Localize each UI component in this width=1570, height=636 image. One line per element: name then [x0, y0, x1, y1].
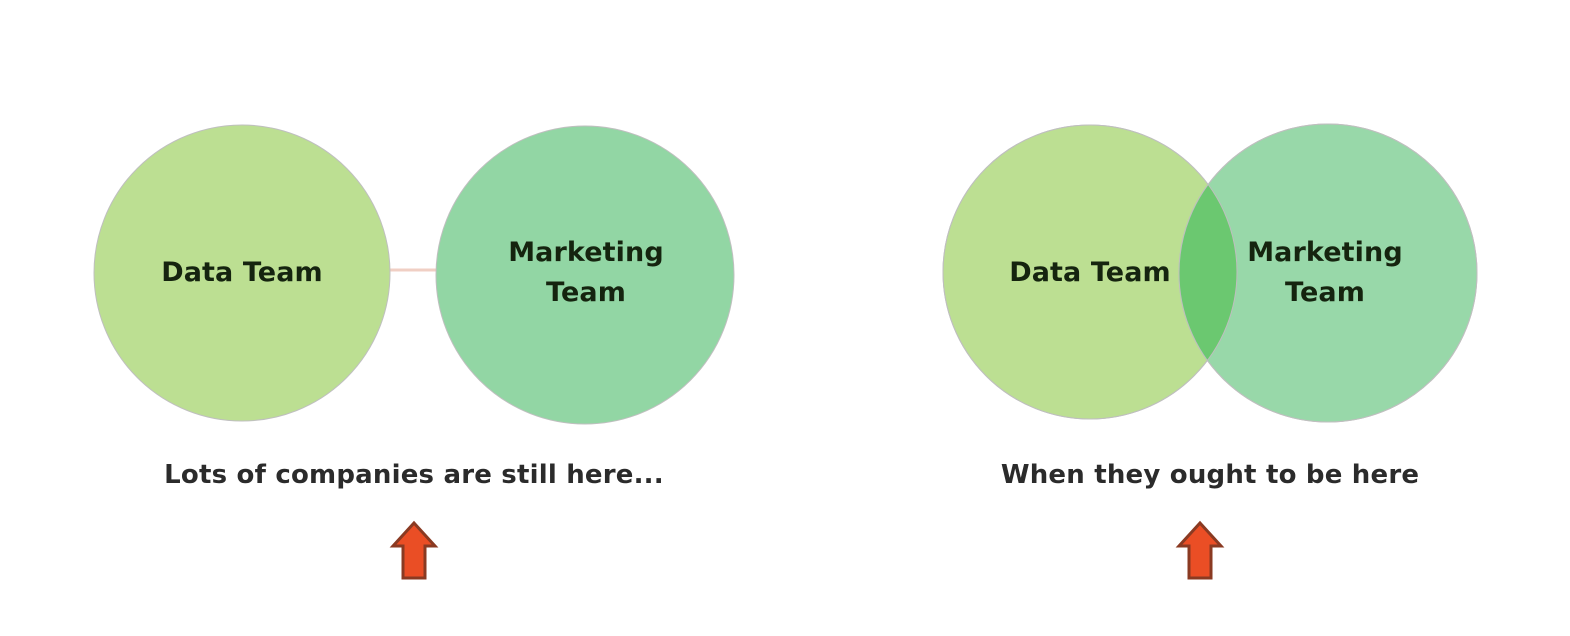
up-arrow-icon [1175, 520, 1225, 586]
overlapping-teams-panel: Data Team Marketing Team When they ought… [800, 0, 1570, 636]
diagram-canvas: Data Team Marketing Team Lots of compani… [0, 0, 1570, 636]
marketing-team-circle[interactable] [436, 126, 734, 424]
panel-caption-separate: Lots of companies are still here... [64, 460, 764, 490]
up-arrow-icon [389, 520, 439, 586]
data-team-circle[interactable] [94, 125, 390, 421]
panel-caption-overlap: When they ought to be here [860, 460, 1560, 490]
separated-teams-panel: Data Team Marketing Team Lots of compani… [0, 0, 800, 636]
